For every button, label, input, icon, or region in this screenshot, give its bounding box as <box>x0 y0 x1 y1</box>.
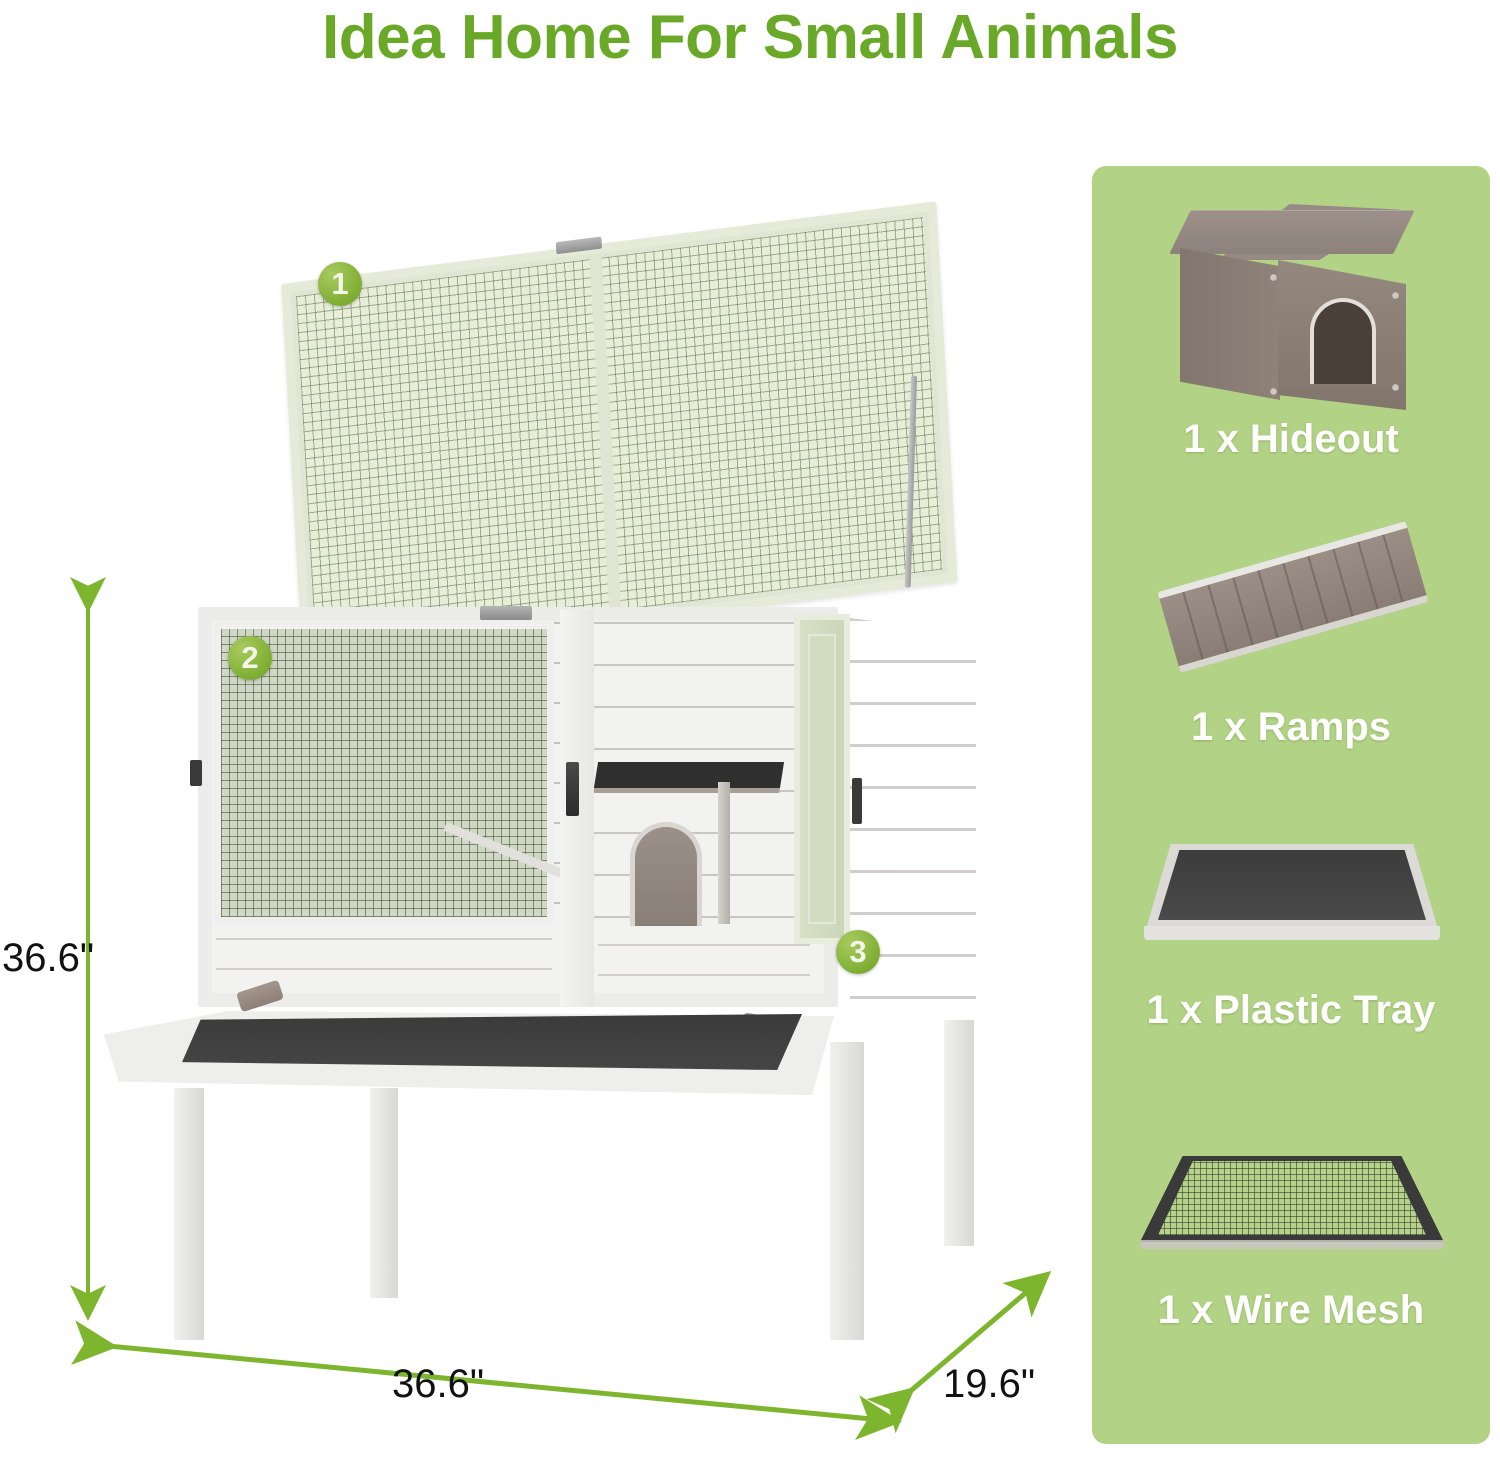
ramp-icon <box>1092 521 1490 701</box>
accessory-item-hideout: 1 x Hideout <box>1092 198 1490 462</box>
accessory-item-plastic-tray: 1 x Plastic Tray <box>1092 814 1490 1033</box>
accessory-label-wire-mesh: 1 x Wire Mesh <box>1092 1288 1490 1333</box>
accessories-panel: 1 x Hideout 1 x Ramps <box>1092 166 1490 1444</box>
infographic-page: Idea Home For Small Animals <box>0 0 1500 1457</box>
dimension-height-label: 36.6" <box>2 936 94 981</box>
product-illustration: 1 2 3 36.6" 36.6" 19.6" <box>0 0 1092 1457</box>
accessory-label-plastic-tray: 1 x Plastic Tray <box>1092 988 1490 1033</box>
dimension-depth-label: 19.6" <box>943 1362 1035 1407</box>
plastic-tray-icon <box>1092 814 1490 984</box>
accessory-label-hideout: 1 x Hideout <box>1092 417 1490 462</box>
dimension-arrows <box>0 0 1092 1457</box>
hideout-box-icon <box>1092 198 1490 413</box>
wire-mesh-icon <box>1092 1116 1490 1284</box>
accessory-label-ramps: 1 x Ramps <box>1092 705 1490 750</box>
accessory-item-wire-mesh: 1 x Wire Mesh <box>1092 1116 1490 1333</box>
accessory-item-ramps: 1 x Ramps <box>1092 521 1490 750</box>
dimension-width-label: 36.6" <box>392 1362 484 1407</box>
